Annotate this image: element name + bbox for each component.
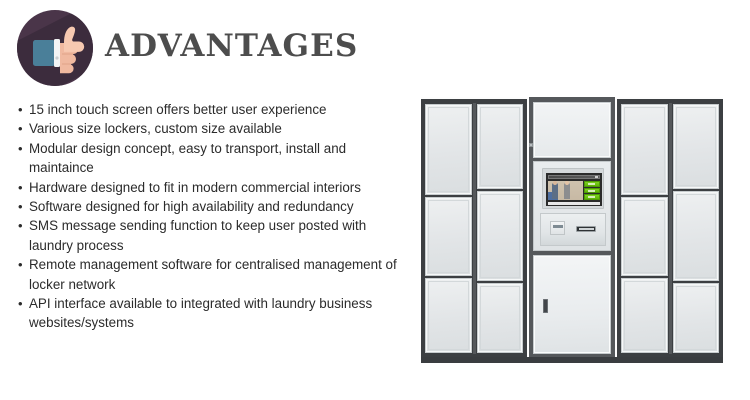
- thumbs-up-icon: [17, 10, 93, 86]
- screen-content: [548, 181, 600, 200]
- locker-door[interactable]: [621, 104, 668, 195]
- kiosk-top-panel: [533, 102, 611, 158]
- thumbs-up-glyph: [17, 10, 93, 86]
- screen-action-button[interactable]: [584, 194, 600, 200]
- screen-photo-person: [564, 183, 570, 199]
- left-locker-bank: [421, 99, 527, 358]
- locker-door[interactable]: [425, 104, 472, 195]
- list-item: Software designed for high availability …: [18, 197, 403, 216]
- bank-divider: [473, 103, 476, 354]
- locker-door[interactable]: [673, 283, 719, 353]
- screen-action-button[interactable]: [584, 181, 600, 187]
- screen-bezel: [542, 168, 604, 209]
- card-reader-slot[interactable]: [576, 226, 596, 232]
- reader-panel: [540, 213, 606, 246]
- locker-door[interactable]: [673, 104, 719, 189]
- locker-door[interactable]: [477, 104, 523, 189]
- locker-door[interactable]: [673, 191, 719, 281]
- screen-photo-area: [548, 181, 583, 200]
- right-locker-bank: [617, 99, 723, 358]
- bank-divider: [669, 103, 672, 354]
- locker-door[interactable]: [477, 191, 523, 281]
- locker-door[interactable]: [425, 278, 472, 353]
- cabinet-base-bar: [421, 357, 723, 363]
- list-item: Hardware designed to fit in modern comme…: [18, 178, 403, 197]
- product-image-locker-cabinet: [421, 97, 723, 363]
- screen-bottom-bar: [548, 202, 600, 205]
- screen-titlebar: [548, 175, 600, 179]
- service-door[interactable]: [533, 255, 611, 354]
- list-item: 15 inch touch screen offers better user …: [18, 100, 403, 119]
- sensor-indicator-icon: [529, 143, 533, 147]
- list-item: API interface available to integrated wi…: [18, 294, 403, 333]
- locker-door[interactable]: [477, 283, 523, 353]
- list-item: SMS message sending function to keep use…: [18, 216, 403, 255]
- locker-door[interactable]: [425, 197, 472, 276]
- touch-screen-display[interactable]: [546, 173, 602, 206]
- kiosk-module: [533, 161, 611, 251]
- page-title: ADVANTAGES: [105, 28, 358, 64]
- center-kiosk-column: [529, 97, 615, 360]
- header: ADVANTAGES: [0, 0, 750, 96]
- locker-door[interactable]: [621, 197, 668, 276]
- screen-button-group: [584, 181, 600, 200]
- screen-action-button[interactable]: [584, 188, 600, 194]
- service-door-handle[interactable]: [543, 299, 548, 313]
- receipt-printer-slot[interactable]: [550, 221, 565, 235]
- advantages-list: 15 inch touch screen offers better user …: [18, 100, 403, 333]
- list-item: Various size lockers, custom size availa…: [18, 119, 403, 138]
- list-item: Modular design concept, easy to transpor…: [18, 139, 403, 178]
- screen-photo-person: [552, 183, 558, 199]
- locker-door[interactable]: [621, 278, 668, 353]
- list-item: Remote management software for centralis…: [18, 255, 403, 294]
